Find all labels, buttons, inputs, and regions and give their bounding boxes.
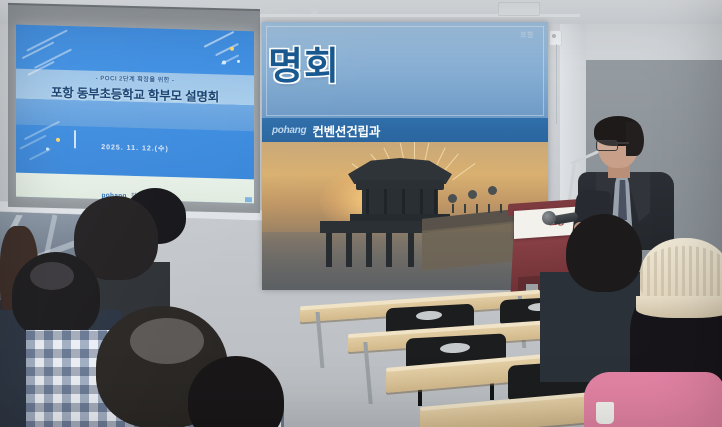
sensor-led-icon (552, 34, 556, 38)
paper-cup (596, 402, 614, 424)
ceiling-vent (498, 2, 540, 16)
banner-department-strip: pohang 컨벤션건립과 (262, 118, 548, 142)
ceiling-light-icon (310, 5, 319, 14)
banner-brand-logo: pohang (272, 125, 306, 136)
presentation-slide: - POCI 2단계 확장을 위한 - 포항 동부초등학교 학부모 설명회 20… (16, 25, 254, 204)
banner-city-logo: 포항 (520, 30, 534, 40)
hair-highlight (130, 318, 204, 364)
beanie-texture (640, 246, 722, 298)
slide-corner-accent (245, 197, 252, 202)
banner-photo-pavilion (262, 142, 548, 290)
audience-member (566, 214, 642, 292)
banner-department-label: 컨벤션건립과 (312, 121, 380, 140)
sensor-wire (556, 44, 557, 124)
beanie-brim (636, 296, 722, 318)
banner-headline: 명회 (268, 48, 340, 86)
event-backdrop-banner: 포항 명회 pohang 컨벤션건립과 (262, 22, 548, 290)
hair-highlight (30, 262, 74, 290)
presentation-room-photo: ❬ - POCI 2단계 확장을 위한 - 포항 동부초등학교 학부모 설명회 … (0, 0, 722, 427)
